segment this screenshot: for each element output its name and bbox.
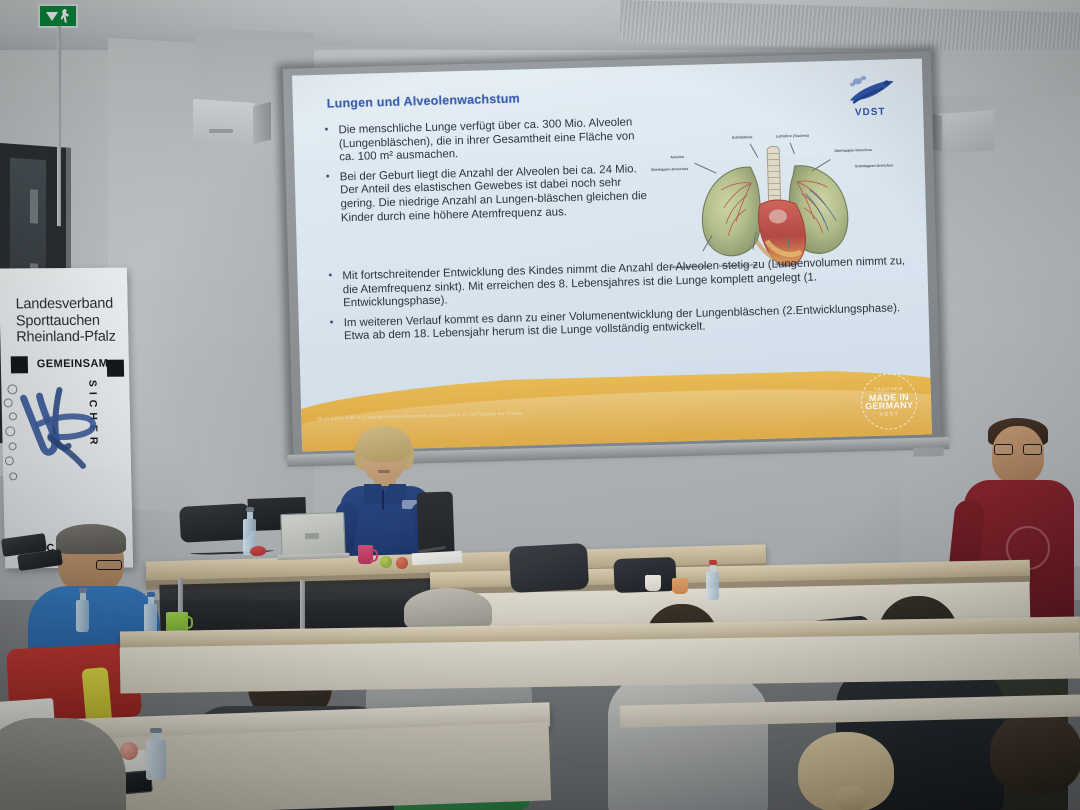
ceiling-tile-band — [620, 0, 1080, 55]
water-bottle — [706, 560, 719, 572]
water-bottle — [243, 507, 256, 519]
head-hair — [990, 712, 1080, 794]
speaker-side — [253, 102, 271, 144]
hair-bun — [834, 786, 868, 810]
banner-square — [107, 360, 124, 377]
glasses-icon — [96, 560, 122, 570]
slide-bullet: Mit fortschreitender Entwicklung des Kin… — [325, 255, 906, 311]
lung-label-luftroehre: Luftröhre (Trachea) — [776, 134, 809, 139]
wall-speaker-right — [938, 112, 1008, 152]
bottle-neck — [148, 597, 154, 604]
lung-label-arterien: Arterien — [670, 155, 684, 160]
bottle-neck — [152, 733, 161, 740]
speaker-logo — [209, 129, 233, 133]
speaker-face — [938, 110, 994, 154]
bottle-body — [706, 572, 719, 600]
diver-icon — [840, 73, 897, 109]
backpack-on-bench — [509, 543, 589, 593]
water-bottle — [146, 728, 166, 740]
speaker-head — [992, 426, 1044, 484]
wall-speaker-left — [193, 101, 271, 143]
torso-grey-top — [608, 676, 768, 810]
bottle-neck — [80, 593, 86, 600]
bottle-body — [76, 600, 89, 632]
lecture-room-scene: Lungen und Alveolenwachstum VDST — [0, 0, 1080, 810]
window-hinge — [30, 189, 38, 224]
presenter-polo-placket — [382, 490, 384, 510]
water-bottle — [144, 592, 157, 604]
exit-arrow-icon — [46, 12, 58, 21]
apple-red — [396, 557, 408, 569]
paper-cup — [645, 575, 661, 591]
bag-on-table — [179, 503, 251, 543]
mug-pink — [358, 545, 373, 564]
water-bottle — [76, 588, 89, 600]
banner-slogan-row: GEMEINSAM — [11, 356, 123, 375]
exit-sign-pole — [57, 26, 61, 226]
speaker-face — [193, 99, 255, 145]
glasses-icon — [994, 444, 1042, 455]
bottle-neck — [710, 565, 716, 572]
slide-bullet: Die menschliche Lunge verfügt über ca. 3… — [321, 116, 652, 166]
bottle-body — [146, 740, 166, 780]
screen-frame: Lungen und Alveolenwachstum VDST — [283, 51, 941, 458]
presentation-slide: Lungen und Alveolenwachstum VDST — [292, 59, 932, 452]
emergency-exit-icon — [38, 4, 78, 28]
coffee-cup — [672, 578, 688, 594]
presenter-mouth — [378, 470, 390, 473]
banner-square — [11, 356, 28, 373]
exit-runner-icon — [59, 9, 71, 24]
banner-bubble-dots — [3, 384, 19, 484]
audience-foreground-left — [0, 718, 126, 810]
torso — [0, 718, 126, 810]
laptop-badge — [305, 533, 319, 539]
slide-bullets-bottom: Mit fortschreitender Entwicklung des Kin… — [325, 255, 907, 351]
lsrp-signature-logo — [15, 380, 103, 471]
audience-foreground-right — [980, 712, 1080, 810]
presenter-hair-top — [357, 426, 411, 462]
seal-main-text: MADE IN GERMANY — [862, 392, 916, 409]
roll-up-banner: Landesverband Sporttauchen Rheinland-Pfa… — [0, 268, 133, 569]
lung-label-schilddruese: Schilddrüse — [732, 135, 753, 140]
seal-top-text: TAUCHEN — [874, 385, 903, 394]
banner-headline: Landesverband Sporttauchen Rheinland-Pfa… — [15, 296, 132, 346]
screen-rail-end — [913, 447, 943, 457]
hair — [56, 524, 126, 554]
projection-screen: Lungen und Alveolenwachstum VDST — [283, 51, 941, 458]
slide-title: Lungen und Alveolenwachstum — [327, 91, 520, 110]
bottle-neck — [247, 512, 253, 519]
slide-bullets-top: Die menschliche Lunge verfügt über ca. 3… — [321, 116, 654, 232]
presenter-laptop — [276, 512, 350, 560]
seal-bottom-text: VDST — [879, 410, 899, 419]
apple-green — [380, 556, 392, 568]
audience-blonde-bun — [782, 726, 912, 810]
slide-bullet: Bei der Geburt liegt die Anzahl der Alve… — [323, 163, 654, 226]
banner-slogan-gemeinsam: GEMEINSAM — [37, 358, 109, 370]
